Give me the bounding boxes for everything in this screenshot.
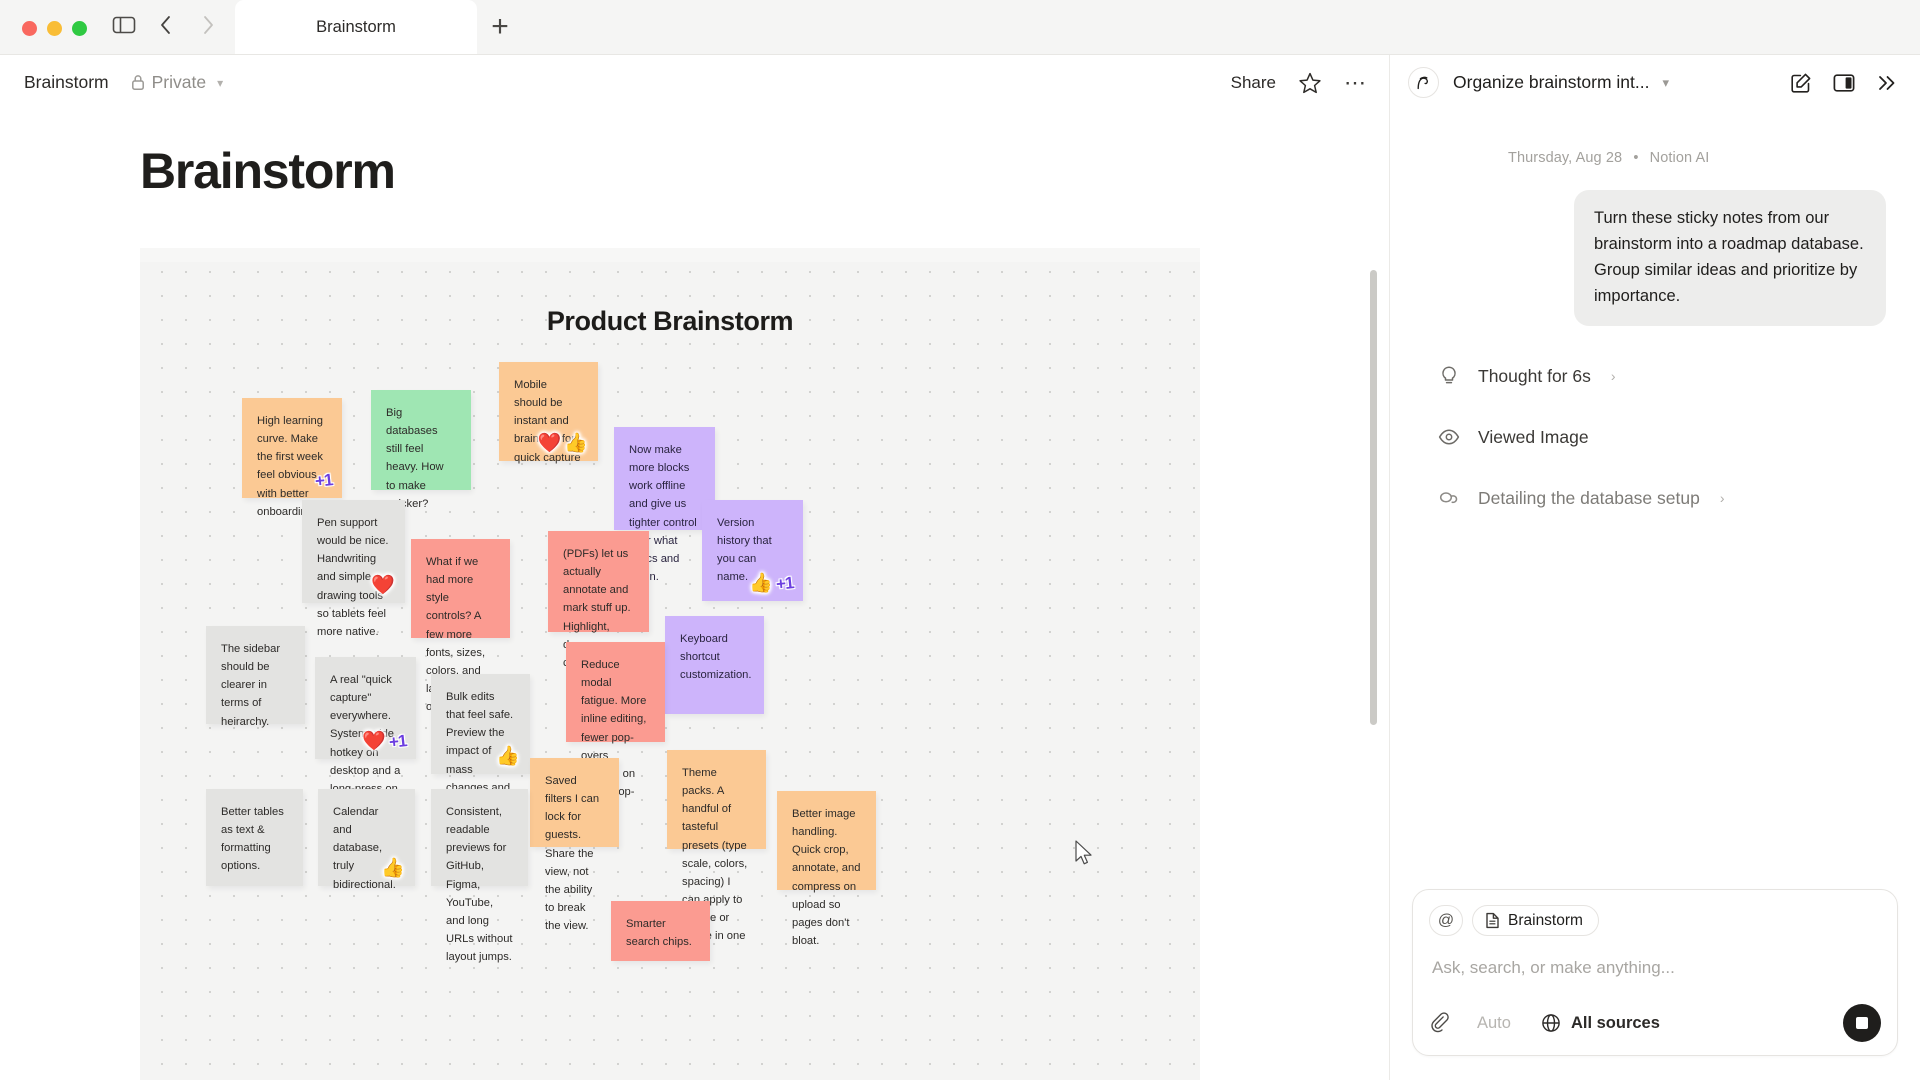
plus-one-badge: +1	[775, 574, 794, 594]
ai-step-3[interactable]: Detailing the database setup›	[1424, 468, 1886, 509]
composer-footer: Auto All sources	[1429, 1004, 1881, 1042]
thumbsup-emoji: 👍	[749, 574, 773, 593]
sticky-note[interactable]: The sidebar should be clearer in terms o…	[206, 626, 305, 724]
browser-nav-controls	[103, 12, 227, 54]
heart-emoji: ❤️	[362, 732, 386, 751]
ai-chat-thread: Thursday, Aug 28 • Notion AI Turn these …	[1390, 110, 1920, 889]
sticky-note[interactable]: Smarter search chips.	[611, 901, 710, 961]
sticky-note-reactions[interactable]: +1	[315, 472, 332, 490]
sticky-note[interactable]: Better tables as text & formatting optio…	[206, 789, 303, 886]
sticky-note[interactable]: Mobile should be instant and brainless f…	[499, 362, 598, 461]
chevron-down-icon: ▾	[217, 76, 223, 90]
sticky-note[interactable]: High learning curve. Make the first week…	[242, 398, 342, 498]
favorite-star-icon[interactable]	[1298, 71, 1322, 95]
ai-step-list: Thought for 6s›Viewed ImageDetailing the…	[1424, 346, 1886, 509]
mention-button[interactable]: @	[1429, 905, 1463, 936]
browser-tab-label: Brainstorm	[316, 18, 396, 37]
sticky-note[interactable]: Now make more blocks work offline and gi…	[614, 427, 715, 530]
stop-generation-button[interactable]	[1843, 1004, 1881, 1042]
notion-ai-icon	[1408, 67, 1439, 98]
page-toolbar: Brainstorm Private ▾ Share ⋯	[0, 55, 1389, 110]
thumbsup-emoji: 👍	[496, 747, 520, 766]
sticky-note[interactable]: Big databases still feel heavy. How to m…	[371, 390, 471, 490]
sticky-note[interactable]: Reduce modal fatigue. More inline editin…	[566, 642, 665, 742]
sticky-note[interactable]: Calendar and database, truly bidirection…	[318, 789, 415, 886]
ai-composer-wrap: @ Brainstorm Ask, search, or make anythi…	[1390, 889, 1920, 1080]
document-icon	[1485, 912, 1500, 929]
ai-chat-panel: Organize brainstorm int... ▾ Thursday, A…	[1389, 55, 1920, 1080]
ai-meta-separator: •	[1633, 150, 1638, 166]
ai-meta-source: Notion AI	[1650, 150, 1710, 166]
sticky-note-text: The sidebar should be clearer in terms o…	[221, 640, 290, 731]
sticky-note[interactable]: Consistent, readable previews for GitHub…	[431, 789, 528, 886]
ai-step-1[interactable]: Thought for 6s›	[1424, 346, 1886, 387]
sticky-note-text: Consistent, readable previews for GitHub…	[446, 803, 513, 966]
thumbsup-emoji: 👍	[381, 859, 405, 878]
more-options-icon[interactable]: ⋯	[1344, 78, 1367, 88]
eye-icon	[1438, 426, 1460, 448]
scrollbar-thumb[interactable]	[1370, 270, 1377, 725]
browser-tab[interactable]: Brainstorm	[235, 0, 477, 54]
sticky-note-text: Better image handling. Quick crop, annot…	[792, 805, 861, 950]
canvas-title: Product Brainstorm	[140, 306, 1200, 337]
breadcrumb[interactable]: Brainstorm	[24, 72, 109, 93]
window-traffic-lights	[0, 21, 103, 54]
ai-composer[interactable]: @ Brainstorm Ask, search, or make anythi…	[1412, 889, 1898, 1056]
document-scrollbar[interactable]	[1370, 270, 1377, 1070]
maximize-window-button[interactable]	[72, 21, 87, 36]
canvas-top-fade	[140, 248, 1200, 262]
sticky-note[interactable]: Theme packs. A handful of tasteful prese…	[667, 750, 766, 849]
sticky-note-text: Keyboard shortcut customization.	[680, 630, 749, 684]
thumbsup-emoji: 👍	[564, 434, 588, 453]
minimize-window-button[interactable]	[47, 21, 62, 36]
model-auto-label[interactable]: Auto	[1477, 1014, 1511, 1033]
paperclip-icon[interactable]	[1429, 1011, 1453, 1035]
lightbulb-icon	[1438, 365, 1460, 387]
sticky-note[interactable]: What if we had more style controls? A fe…	[411, 539, 510, 638]
ai-conversation-title[interactable]: Organize brainstorm int...	[1453, 72, 1649, 93]
document-pane: Brainstorm Private ▾ Share ⋯ Brainstorm	[0, 55, 1389, 1080]
chevron-right-icon	[195, 12, 221, 38]
ai-step-2[interactable]: Viewed Image	[1424, 407, 1886, 448]
chevron-left-icon[interactable]	[153, 12, 179, 38]
sticky-note-reactions[interactable]: 👍+1	[749, 574, 793, 593]
chevron-down-icon[interactable]: ▾	[1662, 75, 1669, 91]
plus-icon: +	[491, 10, 509, 44]
chevron-right-icon: ›	[1720, 490, 1725, 506]
ai-prompt-input[interactable]: Ask, search, or make anything...	[1429, 936, 1881, 1004]
thinking-icon	[1438, 487, 1460, 509]
sticky-note[interactable]: (PDFs) let us actually annotate and mark…	[548, 531, 649, 632]
sticky-note[interactable]: Pen support would be nice. Handwriting a…	[302, 500, 405, 603]
ai-panel-header: Organize brainstorm int... ▾	[1390, 55, 1920, 110]
sticky-note-reactions[interactable]: 👍	[381, 859, 405, 878]
visibility-label: Private	[152, 72, 206, 93]
ai-step-label: Thought for 6s	[1478, 366, 1591, 387]
sticky-note-text: Big databases still feel heavy. How to m…	[386, 404, 456, 513]
user-message-bubble: Turn these sticky notes from our brainst…	[1574, 190, 1886, 326]
panel-layout-icon[interactable]	[1833, 72, 1855, 94]
ai-header-actions	[1790, 72, 1898, 94]
share-button[interactable]: Share	[1231, 73, 1276, 93]
sources-label: All sources	[1571, 1014, 1660, 1033]
sticky-note[interactable]: Better image handling. Quick crop, annot…	[777, 791, 876, 890]
ai-meta-date: Thursday, Aug 28	[1508, 150, 1622, 166]
sticky-note-text: Better tables as text & formatting optio…	[221, 803, 288, 876]
sticky-note[interactable]: Saved filters I can lock for guests. Sha…	[530, 758, 619, 847]
context-chip-brainstorm[interactable]: Brainstorm	[1472, 905, 1599, 936]
sticky-note-text: Smarter search chips.	[626, 915, 695, 951]
heart-emoji: ❤️	[538, 434, 562, 453]
document-body: Brainstorm Product Brainstorm High learn…	[0, 110, 1389, 1080]
close-window-button[interactable]	[22, 21, 37, 36]
heart-emoji: ❤️	[371, 576, 395, 595]
composer-context-chips: @ Brainstorm	[1429, 905, 1881, 936]
mouse-cursor	[1074, 840, 1094, 868]
page-toolbar-actions: Share ⋯	[1231, 71, 1367, 95]
sticky-note-reactions[interactable]: ❤️+1	[362, 732, 406, 751]
plus-one-badge: +1	[388, 732, 407, 752]
sticky-note[interactable]: Keyboard shortcut customization.	[665, 616, 764, 714]
page-title[interactable]: Brainstorm	[0, 110, 1389, 200]
tabbar-empty-space	[523, 0, 1920, 54]
stop-icon	[1856, 1017, 1868, 1029]
chevron-right-icon: ›	[1611, 368, 1616, 384]
lock-icon	[131, 74, 145, 91]
sticky-note[interactable]: Version history that you can name.👍+1	[702, 500, 803, 601]
ai-step-label: Viewed Image	[1478, 427, 1589, 448]
globe-icon	[1541, 1013, 1561, 1033]
sources-selector[interactable]: All sources	[1541, 1013, 1660, 1033]
visibility-badge[interactable]: Private ▾	[131, 72, 224, 93]
browser-tab-bar: Brainstorm +	[0, 0, 1920, 55]
plus-one-badge: +1	[314, 471, 333, 491]
sidebar-toggle-icon[interactable]	[111, 12, 137, 38]
sticky-note[interactable]: A real "quick capture" everywhere. Syste…	[315, 657, 416, 759]
sticky-note[interactable]: Bulk edits that feel safe. Preview the i…	[431, 674, 530, 774]
collapse-icon[interactable]	[1876, 72, 1898, 94]
sticky-note-reactions[interactable]: ❤️	[371, 576, 395, 595]
new-tab-button[interactable]: +	[477, 0, 523, 54]
sticky-note-text: Saved filters I can lock for guests. Sha…	[545, 772, 604, 935]
ai-step-label: Detailing the database setup	[1478, 488, 1700, 509]
app-body: Brainstorm Private ▾ Share ⋯ Brainstorm	[0, 55, 1920, 1080]
sticky-note-reactions[interactable]: 👍	[496, 747, 520, 766]
sticky-note-reactions[interactable]: ❤️👍	[538, 434, 588, 453]
new-chat-icon[interactable]	[1790, 72, 1812, 94]
ai-message-meta: Thursday, Aug 28 • Notion AI	[1424, 110, 1886, 166]
sticky-note-text: Calendar and database, truly bidirection…	[333, 803, 400, 894]
whiteboard-canvas[interactable]: Product Brainstorm High learning curve. …	[140, 248, 1200, 1080]
context-chip-label: Brainstorm	[1508, 912, 1583, 930]
